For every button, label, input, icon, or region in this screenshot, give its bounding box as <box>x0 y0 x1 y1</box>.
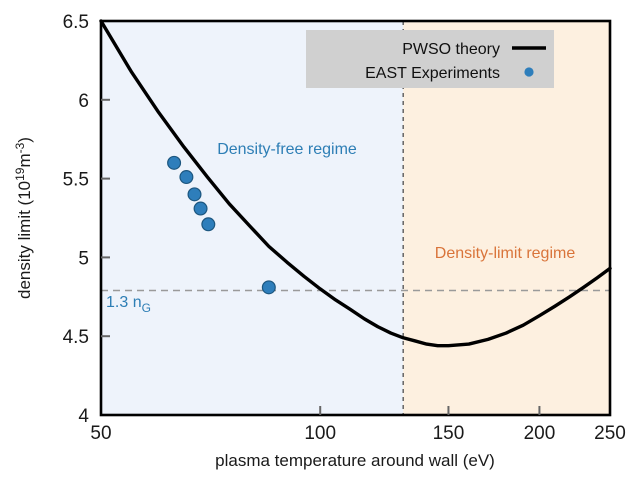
x-tick-label: 250 <box>594 423 626 444</box>
data-point <box>262 281 275 294</box>
region-label-density-free: Density-free regime <box>217 141 357 158</box>
x-tick-label: 100 <box>304 423 336 444</box>
data-point <box>180 171 193 184</box>
region-label-density-limit: Density-limit regime <box>435 245 576 262</box>
y-tick-label: 5.5 <box>63 170 89 191</box>
y-tick-label: 4.5 <box>63 327 89 348</box>
legend-label-pwso-theory: PWSO theory <box>402 41 500 58</box>
y-axis-title-end: ) <box>15 137 34 143</box>
y-axis-title-exp1: 19 <box>13 167 27 181</box>
legend-marker-dot <box>524 67 533 76</box>
data-point <box>202 218 215 231</box>
y-tick-label: 5 <box>78 248 89 269</box>
y-axis-title-mid: m <box>15 153 34 167</box>
y-axis-title-exp2: -3 <box>13 142 27 153</box>
gw-density-label-sub: G <box>142 301 151 315</box>
data-point <box>194 202 207 215</box>
x-tick-label: 150 <box>433 423 465 444</box>
density-limit-chart: 44.555.566.5 50100150200250 Density-free… <box>0 0 640 480</box>
data-point <box>188 188 201 201</box>
gw-density-label-main: 1.3 n <box>106 294 142 311</box>
x-axis-title: plasma temperature around wall (eV) <box>215 451 495 470</box>
x-tick-label: 50 <box>90 423 111 444</box>
y-tick-label: 6.5 <box>63 12 89 33</box>
data-point <box>168 156 181 169</box>
y-axis-title: density limit (1019m-3) <box>13 137 34 299</box>
x-tick-label: 200 <box>524 423 556 444</box>
y-tick-label: 6 <box>78 91 89 112</box>
chart-legend[interactable]: PWSO theory EAST Experiments <box>306 30 554 88</box>
y-axis-title-main: density limit (10 <box>15 181 34 299</box>
legend-label-east-experiments: EAST Experiments <box>365 65 500 82</box>
chart-figure: 44.555.566.5 50100150200250 Density-free… <box>0 0 640 480</box>
y-tick-label: 4 <box>78 406 89 427</box>
